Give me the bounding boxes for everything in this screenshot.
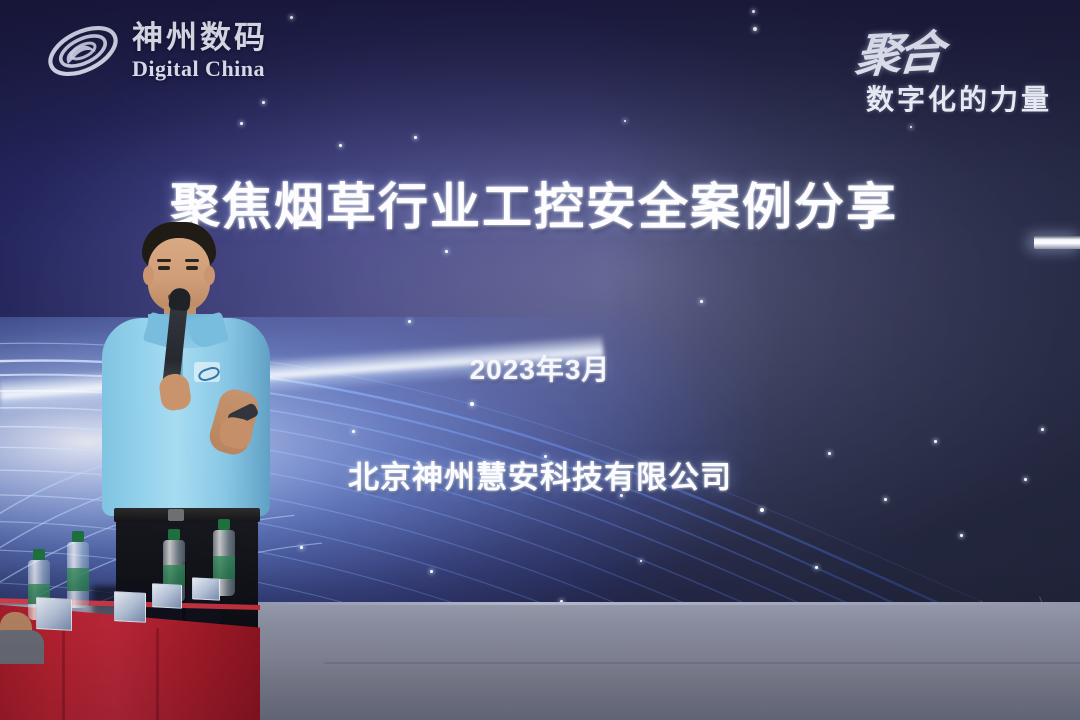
speaker-eye-right xyxy=(186,266,198,270)
conference-stage-photo: 神州数码 Digital China 聚合 数字化的力量 聚焦烟草行业工控安全案… xyxy=(0,0,1080,720)
name-card xyxy=(36,597,72,631)
bottle-label xyxy=(213,556,235,578)
name-card xyxy=(114,591,146,623)
speaker-ear-left xyxy=(143,266,154,285)
company-emblem-icon xyxy=(194,362,220,382)
bottle-cap xyxy=(218,519,230,530)
bottle-cap xyxy=(72,531,84,542)
bottle-cap xyxy=(168,529,180,540)
bottle-label xyxy=(163,565,185,586)
speaker-belt-buckle xyxy=(168,509,184,521)
speaker-belt xyxy=(114,508,260,522)
speaker-collar-right xyxy=(187,312,230,351)
speaker-eyebrow-right xyxy=(185,259,199,262)
name-card xyxy=(192,577,220,600)
speaker-figure xyxy=(96,222,296,622)
speaker-eyebrow-left xyxy=(157,259,171,262)
bottle-cap xyxy=(33,549,45,560)
seated-attendee-body xyxy=(0,630,44,664)
bottle-label xyxy=(67,568,89,590)
table-drape-fold xyxy=(156,628,159,720)
speaker-eye-left xyxy=(158,266,170,270)
speaker-ear-right xyxy=(204,266,215,285)
name-card xyxy=(152,583,182,609)
stage-floor-seam xyxy=(324,662,1080,664)
